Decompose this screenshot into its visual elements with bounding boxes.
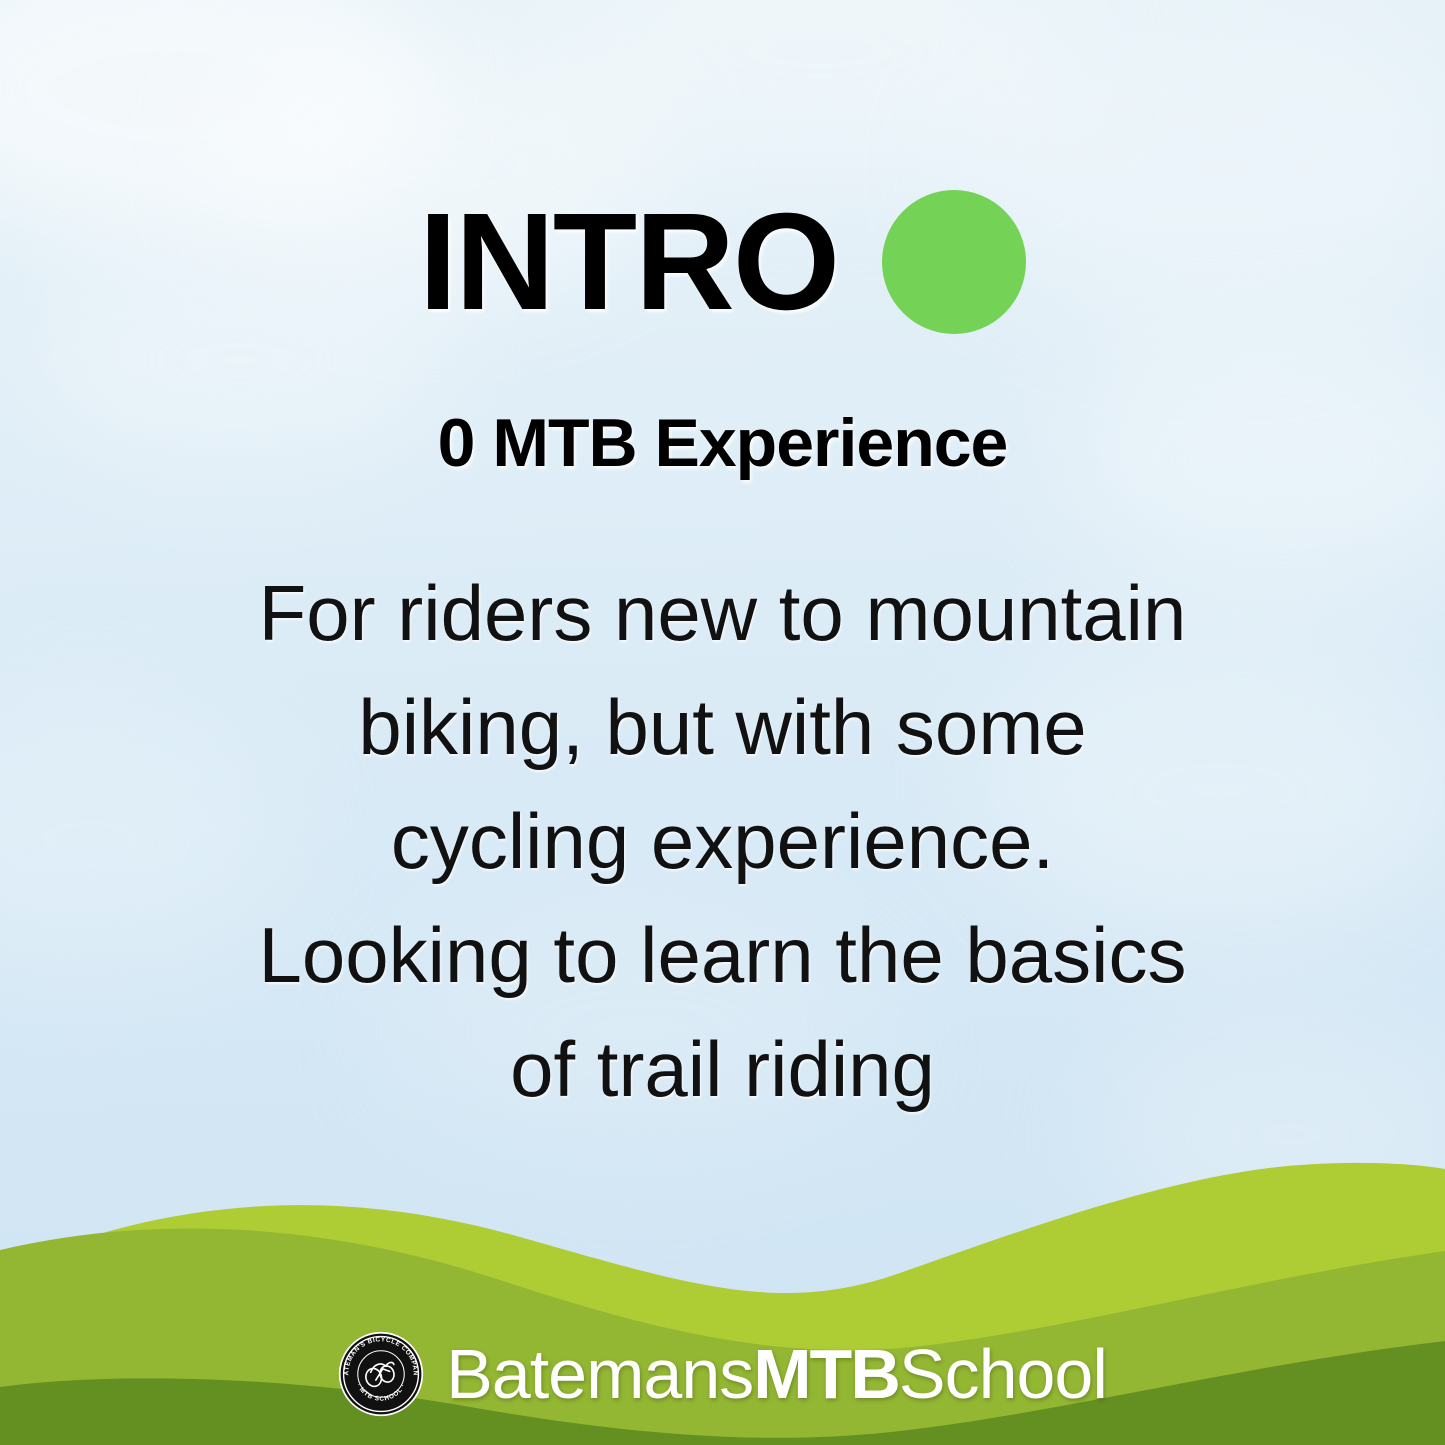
card-header: INTRO [0, 182, 1445, 342]
wordmark-part-mtb: MTB [753, 1335, 899, 1413]
wordmark-part-batemans: Batemans [446, 1335, 753, 1413]
page-title: INTRO [419, 193, 838, 331]
description-line: cycling experience. [190, 784, 1255, 898]
brand-footer: BATEMAN'S BICYCLE COMPANY · MTB SCHOOL ·… [0, 1319, 1445, 1429]
card-description: For riders new to mountain biking, but w… [190, 556, 1255, 1126]
description-line: of trail riding [190, 1012, 1255, 1126]
card-subtitle: 0 MTB Experience [0, 404, 1445, 482]
cloud-shape [560, 0, 1080, 180]
level-dot-icon [882, 190, 1026, 334]
brand-wordmark: BatemansMTBSchool [446, 1339, 1107, 1409]
bateman-logo-badge: BATEMAN'S BICYCLE COMPANY · MTB SCHOOL · [338, 1331, 424, 1417]
description-line: Looking to learn the basics [190, 898, 1255, 1012]
description-line: biking, but with some [190, 670, 1255, 784]
intro-level-card: INTRO 0 MTB Experience For riders new to… [0, 0, 1445, 1445]
wordmark-part-school: School [899, 1335, 1107, 1413]
description-line: For riders new to mountain [190, 556, 1255, 670]
